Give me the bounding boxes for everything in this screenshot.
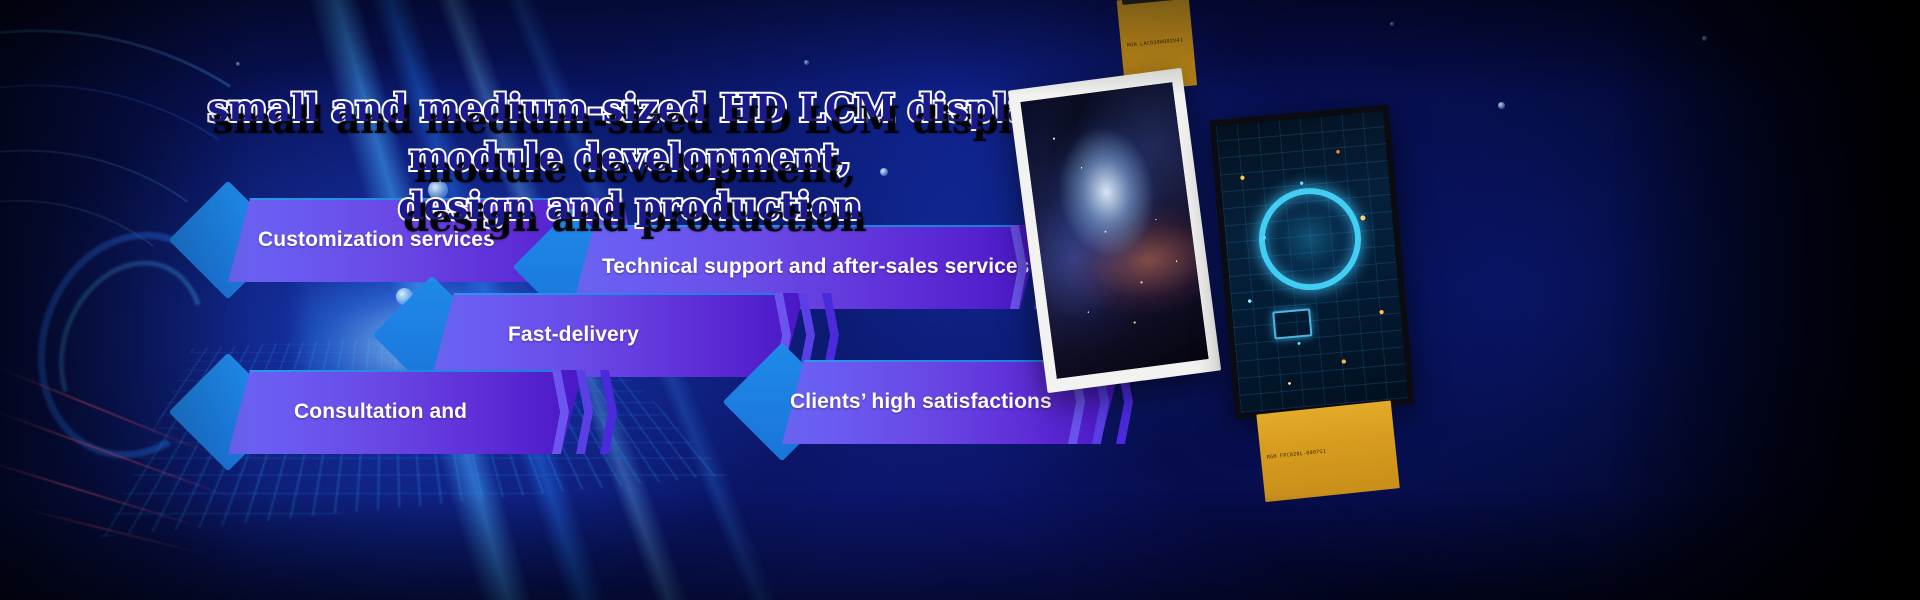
flex-cable: RGH FPC020L-0007G1 — [1256, 401, 1399, 503]
chevron-right-icon — [1010, 225, 1027, 309]
banner-headline: small and medium-sized HD LCM display mo… — [180, 84, 1080, 230]
flex-cable-marking: RGH LAC030WQ02V41 — [1127, 37, 1184, 48]
chevron-right-icon-group — [552, 370, 617, 454]
circuit-dots-decoration — [1216, 111, 1408, 413]
chevron-right-icon — [600, 370, 617, 454]
circuit-lcd-panel: RGH FPC020L-0007G1 — [1209, 105, 1414, 420]
chevron-right-icon — [552, 370, 569, 454]
chevron-right-icon — [576, 370, 593, 454]
panel-screen — [1216, 111, 1408, 413]
promo-banner: small and medium-sized HD LCM display mo… — [0, 0, 1920, 600]
circuit-image — [1216, 111, 1408, 413]
feature-row-consultation[interactable]: Consultation and — [186, 370, 616, 454]
flex-cable-marking: RGH FPC020L-0007G1 — [1267, 449, 1327, 461]
